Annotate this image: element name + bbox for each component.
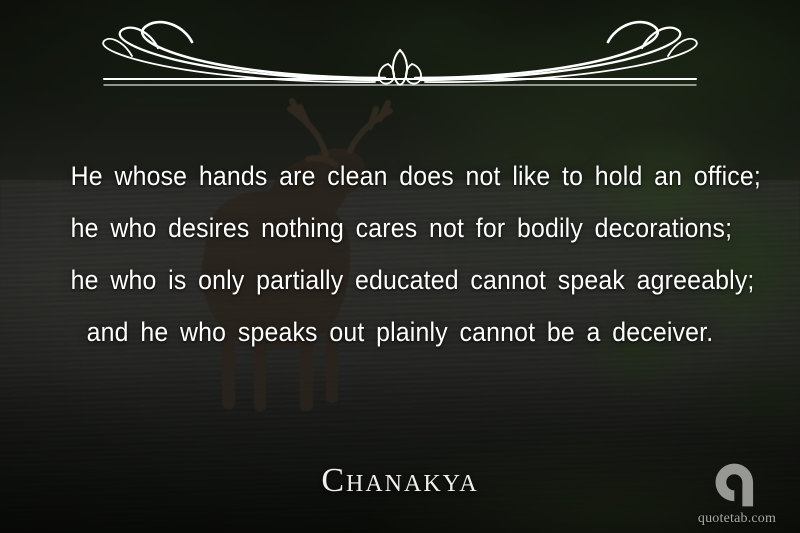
quote-line: and he who speaks out plainly cannot be … [71,306,730,358]
quote-image-card: He whose hands are clean does not like t… [0,0,800,533]
quotetab-logo-icon[interactable] [712,460,762,510]
watermark-text[interactable]: quotetab.com [688,511,786,527]
author-name: Chanakya [0,462,800,500]
flourish-divider-icon [0,8,800,90]
quote-line: he who is only partially educated cannot… [71,254,730,306]
quote-line: he who desires nothing cares not for bod… [71,202,730,254]
quote-line: He whose hands are clean does not like t… [71,150,730,202]
watermark[interactable]: quotetab.com [688,460,786,527]
quote-text: He whose hands are clean does not like t… [71,150,730,358]
